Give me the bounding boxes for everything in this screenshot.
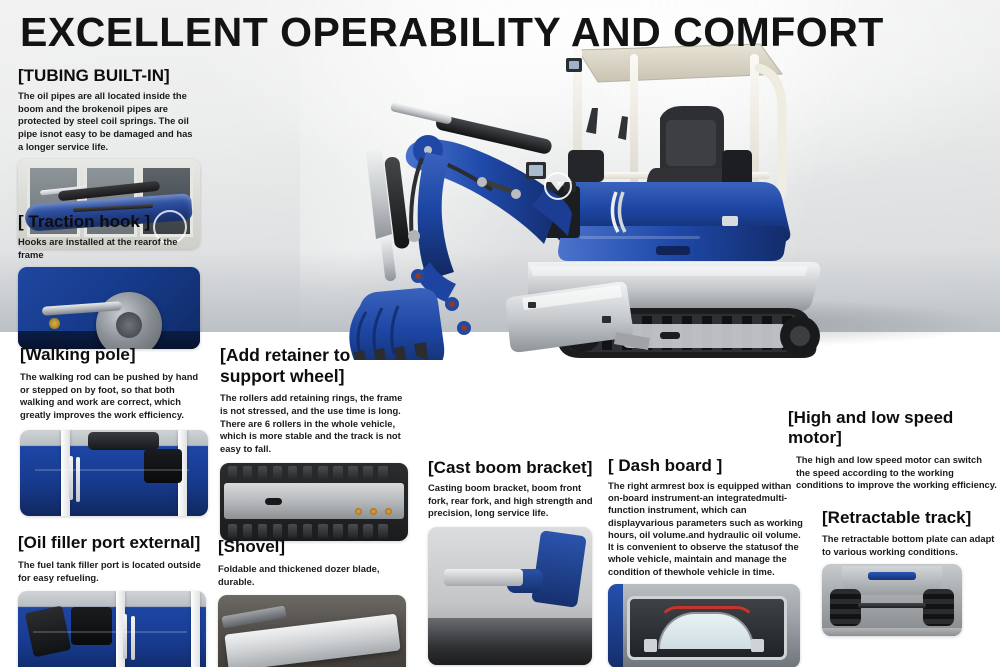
product-feature-poster: [TUBING BUILT-IN] The oil pipes are all … xyxy=(0,0,1000,667)
feature-body: The high and low speed motor can switch … xyxy=(788,454,998,492)
feature-oil-filler-port-external: [Oil filler port external] The fuel tank… xyxy=(18,533,210,667)
feature-title: [ Traction hook ] xyxy=(18,212,200,232)
photo-traction-hook xyxy=(18,267,200,349)
feature-title: [Add retainer to support wheel] xyxy=(220,345,410,386)
feature-title: [Walking pole] xyxy=(20,345,210,365)
feature-traction-hook: [ Traction hook ] Hooks are installed at… xyxy=(18,212,200,349)
feature-cast-boom-bracket: [Cast boom bracket] Casting boom bracket… xyxy=(428,458,598,665)
feature-body: The walking rod can be pushed by hand or… xyxy=(20,371,210,422)
feature-title: [Oil filler port external] xyxy=(18,533,210,553)
photo-walking-pole xyxy=(20,430,208,516)
feature-title: [High and low speed motor] xyxy=(788,408,998,448)
photo-cast-boom-bracket xyxy=(428,527,592,665)
feature-body: Foldable and thickened dozer blade, dura… xyxy=(218,563,410,588)
feature-title: [Cast boom bracket] xyxy=(428,458,598,478)
feature-body: The oil pipes are all located inside the… xyxy=(18,90,200,153)
photo-retractable-track xyxy=(822,564,962,636)
feature-title: [Retractable track] xyxy=(822,508,1000,528)
photo-support-wheel-retainer xyxy=(220,463,408,541)
feature-walking-pole: [Walking pole] The walking rod can be pu… xyxy=(20,345,210,516)
feature-add-retainer-to-support-wheel: [Add retainer to support wheel] The roll… xyxy=(220,345,410,541)
feature-body: Casting boom bracket, boom front fork, r… xyxy=(428,482,598,520)
feature-dash-board: [ Dash board ] The right armrest box is … xyxy=(608,456,808,667)
page-title: EXCELLENT OPERABILITY AND COMFORT xyxy=(20,12,884,53)
feature-title: [Shovel] xyxy=(218,537,410,557)
feature-title: [TUBING BUILT-IN] xyxy=(18,66,200,86)
feature-body: The retractable bottom plate can adapt t… xyxy=(822,533,1000,558)
photo-shovel-dozer-blade xyxy=(218,595,406,667)
photo-dash-board xyxy=(608,584,800,667)
feature-body: The fuel tank filler port is located out… xyxy=(18,559,210,584)
photo-oil-filler-port xyxy=(18,591,206,667)
feature-retractable-track: [Retractable track] The retractable bott… xyxy=(822,508,1000,636)
feature-body: The rollers add retaining rings, the fra… xyxy=(220,392,410,455)
feature-high-and-low-speed-motor: [High and low speed motor] The high and … xyxy=(788,408,998,492)
feature-shovel: [Shovel] Foldable and thickened dozer bl… xyxy=(218,537,410,667)
feature-body: Hooks are installed at the rearof the fr… xyxy=(18,236,200,261)
hero-excavator-image xyxy=(330,40,1000,360)
feature-title: [ Dash board ] xyxy=(608,456,808,476)
feature-body: The right armrest box is equipped withan… xyxy=(608,480,808,578)
